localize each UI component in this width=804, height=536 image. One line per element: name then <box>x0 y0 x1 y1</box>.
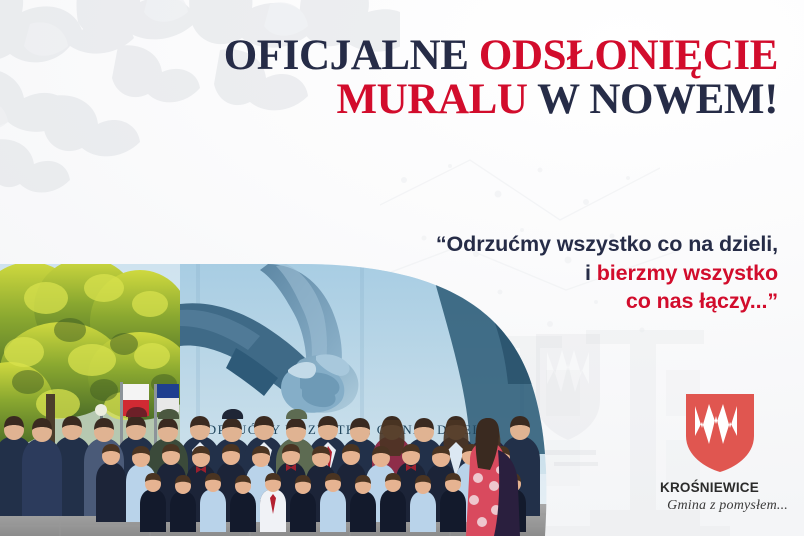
headline-line-1-red: ODSŁONIĘCIE <box>479 32 778 79</box>
headline-line-2-navy: W NOWEM! <box>537 76 778 123</box>
poster-headline: OFICJALNE ODSŁONIĘCIE MURALU W NOWEM! <box>198 34 778 123</box>
headline-line-2-red: MURALU <box>336 76 537 123</box>
quote-line-2-navy: i <box>585 261 597 285</box>
shield-crest-icon <box>684 392 756 474</box>
poster-canvas: OFICJALNE ODSŁONIĘCIE MURALU W NOWEM! “O… <box>0 0 804 536</box>
logo-municipality-name: KROŚNIEWICE <box>660 480 788 495</box>
quote-line-2-red: bierzmy wszystko <box>597 261 778 285</box>
krosniewice-logo[interactable]: KROŚNIEWICE Gmina z pomysłem... <box>660 392 788 522</box>
headline-line-1: OFICJALNE ODSŁONIĘCIE <box>198 34 778 78</box>
event-photo: ODRZUĆMY WSZYSTKO, CO NAS DZIELI, BIERZM… <box>0 264 560 536</box>
quote-line-1: “Odrzućmy wszystko co na dzieli, <box>308 230 778 259</box>
logo-tagline: Gmina z pomysłem... <box>660 498 788 514</box>
headline-line-1-navy: OFICJALNE <box>224 32 479 79</box>
headline-line-2: MURALU W NOWEM! <box>198 78 778 122</box>
event-photo-image: ODRZUĆMY WSZYSTKO, CO NAS DZIELI, BIERZM… <box>0 264 560 536</box>
